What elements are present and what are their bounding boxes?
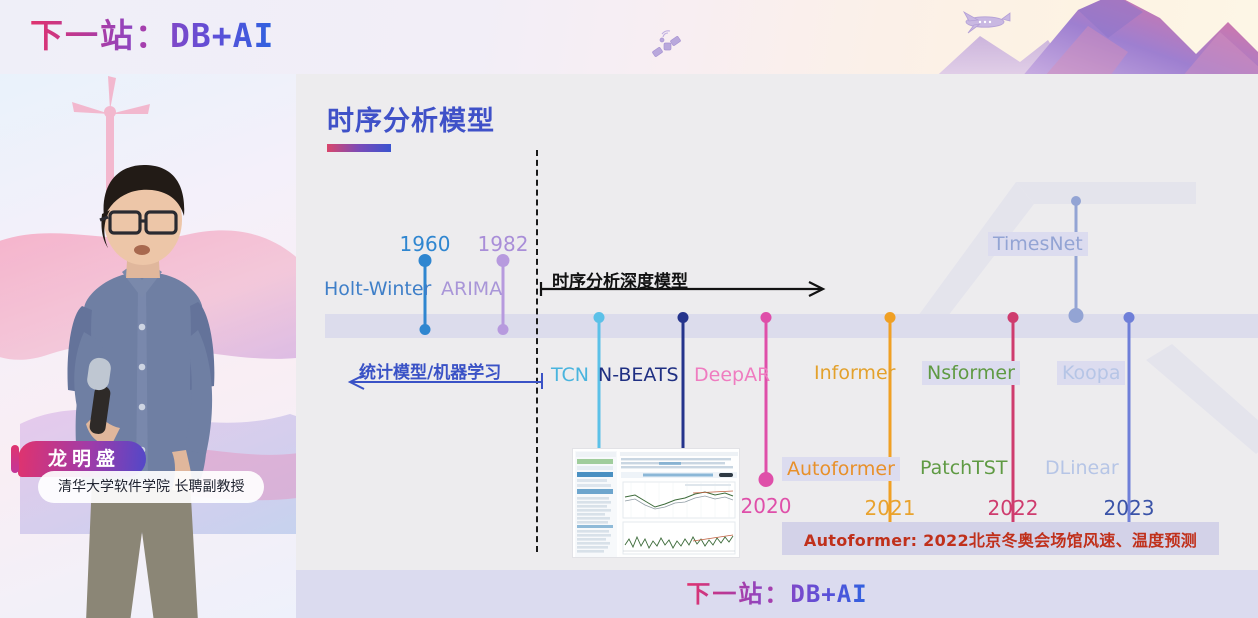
marker-dot-top bbox=[497, 254, 510, 267]
marker-label-informer: Informer bbox=[814, 362, 895, 384]
brand-colon: ： bbox=[135, 17, 170, 54]
marker-label-deepar: DeepAR bbox=[694, 364, 770, 386]
page-title: 时序分析模型 bbox=[327, 99, 495, 138]
footer-brand-cn: 下一站 bbox=[686, 580, 764, 608]
satellite-icon bbox=[650, 30, 684, 64]
marker-year-2020: 2020 bbox=[741, 494, 792, 518]
marker-dot-bottom bbox=[759, 472, 774, 487]
dashboard-screenshot-thumbnail[interactable] bbox=[572, 448, 740, 558]
marker-year-1960: 1960 bbox=[400, 232, 451, 256]
marker-dot-top bbox=[1124, 312, 1135, 323]
screenshot-root: 下一站：DB+AI bbox=[0, 0, 1258, 618]
title-underline-rule bbox=[327, 144, 391, 152]
marker-stem bbox=[1075, 202, 1078, 314]
marker-dot-bottom bbox=[420, 324, 431, 335]
brand-logo-footer: 下一站：DB+AI bbox=[686, 572, 867, 617]
marker-dot-top bbox=[678, 312, 689, 323]
speaker-video-panel: 龙明盛 清华大学软件学院 长聘副教授 bbox=[0, 74, 296, 618]
speaker-affiliation: 清华大学软件学院 长聘副教授 bbox=[38, 471, 264, 503]
marker-label-dlinear: DLinear bbox=[1045, 457, 1119, 479]
marker-label-arima: ARIMA bbox=[441, 278, 502, 300]
marker-label-nbeats: N-BEATS bbox=[598, 364, 679, 386]
speaker-person bbox=[30, 162, 250, 618]
brand-cn: 下一站 bbox=[30, 16, 135, 55]
marker-label-timesnet: TimesNet bbox=[988, 232, 1088, 256]
deep-model-arrow bbox=[539, 280, 829, 298]
statistical-model-arrow bbox=[346, 369, 544, 391]
dashboard-thumbnail-graphic bbox=[573, 449, 740, 558]
marker-dot-top bbox=[761, 312, 772, 323]
marker-stem bbox=[765, 318, 768, 478]
marker-year-2023: 2023 bbox=[1104, 496, 1155, 520]
marker-label-patchtst: PatchTST bbox=[920, 457, 1007, 479]
footer-brand-colon: ： bbox=[764, 581, 790, 608]
marker-label-autoformer: Autoformer bbox=[782, 457, 900, 481]
marker-label-koopa: Koopa bbox=[1057, 361, 1125, 385]
slide-footer: 下一站：DB+AI bbox=[296, 570, 1258, 618]
marker-dot-top bbox=[885, 312, 896, 323]
speaker-nameplate: 龙明盛 清华大学软件学院 长聘副教授 bbox=[10, 441, 280, 513]
marker-dot-top bbox=[1008, 312, 1019, 323]
marker-label-tcn: TCN bbox=[551, 364, 589, 386]
marker-label-holt-winter: Holt-Winter bbox=[324, 278, 431, 300]
marker-dot-top bbox=[1071, 196, 1081, 206]
top-decorative-banner: 下一站：DB+AI bbox=[0, 0, 1258, 74]
marker-dot-top bbox=[594, 312, 605, 323]
marker-year-1982: 1982 bbox=[478, 232, 529, 256]
marker-label-nsformer: Nsformer bbox=[922, 361, 1020, 385]
airplane-icon bbox=[958, 8, 1014, 38]
footer-brand-en: DB+AI bbox=[790, 580, 867, 608]
marker-year-2022: 2022 bbox=[988, 496, 1039, 520]
brand-logo-top: 下一站：DB+AI bbox=[30, 14, 274, 58]
marker-dot-top bbox=[419, 254, 432, 267]
presentation-slide: 时序分析模型 时序分析深度模型 统计模型/机器学习 bbox=[296, 74, 1258, 618]
marker-dot-bottom bbox=[1069, 308, 1084, 323]
marker-dot-bottom bbox=[498, 324, 509, 335]
autoformer-banner-text: Autoformer: 2022北京冬奥会场馆风速、温度预测 bbox=[804, 527, 1197, 551]
autoformer-highlight-banner: Autoformer: 2022北京冬奥会场馆风速、温度预测 bbox=[782, 522, 1219, 555]
brand-en: DB+AI bbox=[170, 16, 274, 55]
era-divider-dashed-line bbox=[536, 150, 538, 552]
timeline-band bbox=[325, 314, 1258, 338]
marker-year-2021: 2021 bbox=[865, 496, 916, 520]
